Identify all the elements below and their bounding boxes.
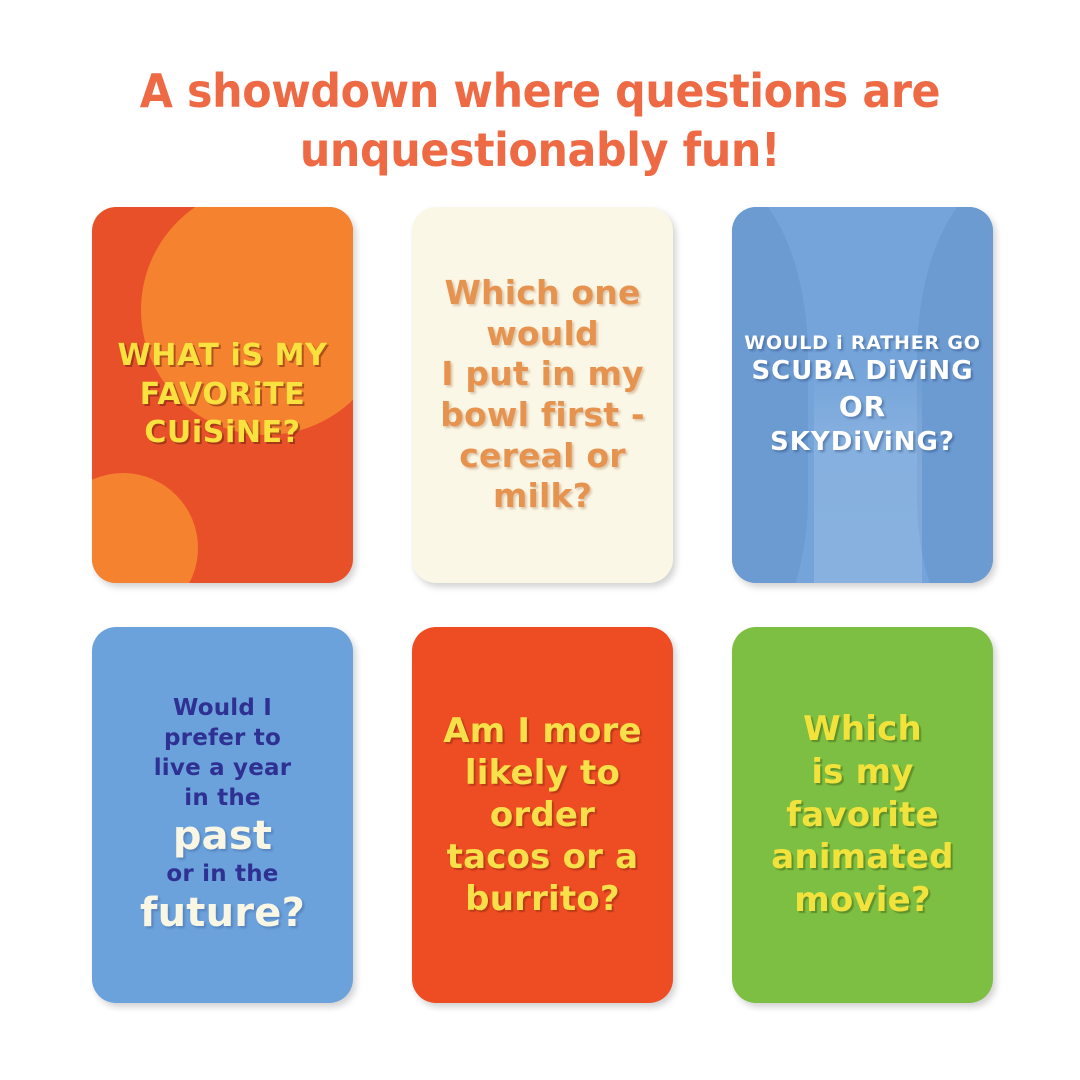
card-question-text: Am I more likely to order tacos or a bur…: [412, 710, 673, 921]
question-card-scuba[interactable]: WOULD i RATHER GO SCUBA DiViNG OR SKYDiV…: [732, 207, 993, 583]
card-line: SCUBA DiViNG: [742, 355, 983, 389]
card-highlight-future: future?: [102, 890, 343, 936]
question-card-cereal[interactable]: Which one would I put in my bowl first -…: [412, 207, 673, 583]
circle-decoration-bottom-left: [92, 473, 198, 583]
card-line: is my: [742, 751, 983, 794]
card-line: prefer to: [102, 724, 343, 754]
card-line: CUiSiNE?: [102, 414, 343, 452]
card-line: Which one: [422, 273, 663, 314]
card-line: WHAT iS MY: [102, 337, 343, 375]
card-line: milk?: [422, 476, 663, 517]
card-line: SKYDiViNG?: [742, 426, 983, 460]
card-question-text: WHAT iS MY FAVORiTE CUiSiNE?: [92, 337, 353, 452]
card-highlight-past: past: [102, 813, 343, 859]
card-line: order: [422, 794, 663, 836]
card-line: would: [422, 314, 663, 355]
card-line: favorite: [742, 794, 983, 837]
question-card-cuisine[interactable]: WHAT iS MY FAVORiTE CUiSiNE?: [92, 207, 353, 583]
card-line: I put in my: [422, 354, 663, 395]
page-title: A showdown where questions are unquestio…: [122, 62, 959, 180]
card-line: Am I more: [422, 710, 663, 752]
card-line: movie?: [742, 879, 983, 922]
headline-line-2: unquestionably fun!: [122, 121, 959, 180]
question-card-tacos[interactable]: Am I more likely to order tacos or a bur…: [412, 627, 673, 1003]
card-question-text: Would I prefer to live a year in the pas…: [92, 694, 353, 936]
card-line: or in the: [102, 860, 343, 890]
headline-line-1: A showdown where questions are: [140, 64, 940, 118]
card-line: live a year: [102, 754, 343, 784]
card-line: tacos or a: [422, 836, 663, 878]
card-line: in the: [102, 784, 343, 814]
card-line: likely to: [422, 752, 663, 794]
card-question-text: WOULD i RATHER GO SCUBA DiViNG OR SKYDiV…: [732, 331, 993, 460]
question-card-past-future[interactable]: Would I prefer to live a year in the pas…: [92, 627, 353, 1003]
card-line: Would I: [102, 694, 343, 724]
card-question-text: Which one would I put in my bowl first -…: [412, 273, 673, 516]
card-line: FAVORiTE: [102, 376, 343, 414]
card-line: WOULD i RATHER GO: [742, 331, 983, 356]
card-line: OR: [742, 389, 983, 425]
card-line: bowl first -: [422, 395, 663, 436]
card-line: animated: [742, 836, 983, 879]
promo-page: A showdown where questions are unquestio…: [0, 0, 1080, 1080]
card-line: burrito?: [422, 878, 663, 920]
card-line: Which: [742, 708, 983, 751]
card-line: cereal or: [422, 436, 663, 477]
card-question-text: Which is my favorite animated movie?: [732, 708, 993, 922]
question-card-grid: WHAT iS MY FAVORiTE CUiSiNE? Which one w…: [92, 207, 993, 1003]
question-card-animated-movie[interactable]: Which is my favorite animated movie?: [732, 627, 993, 1003]
